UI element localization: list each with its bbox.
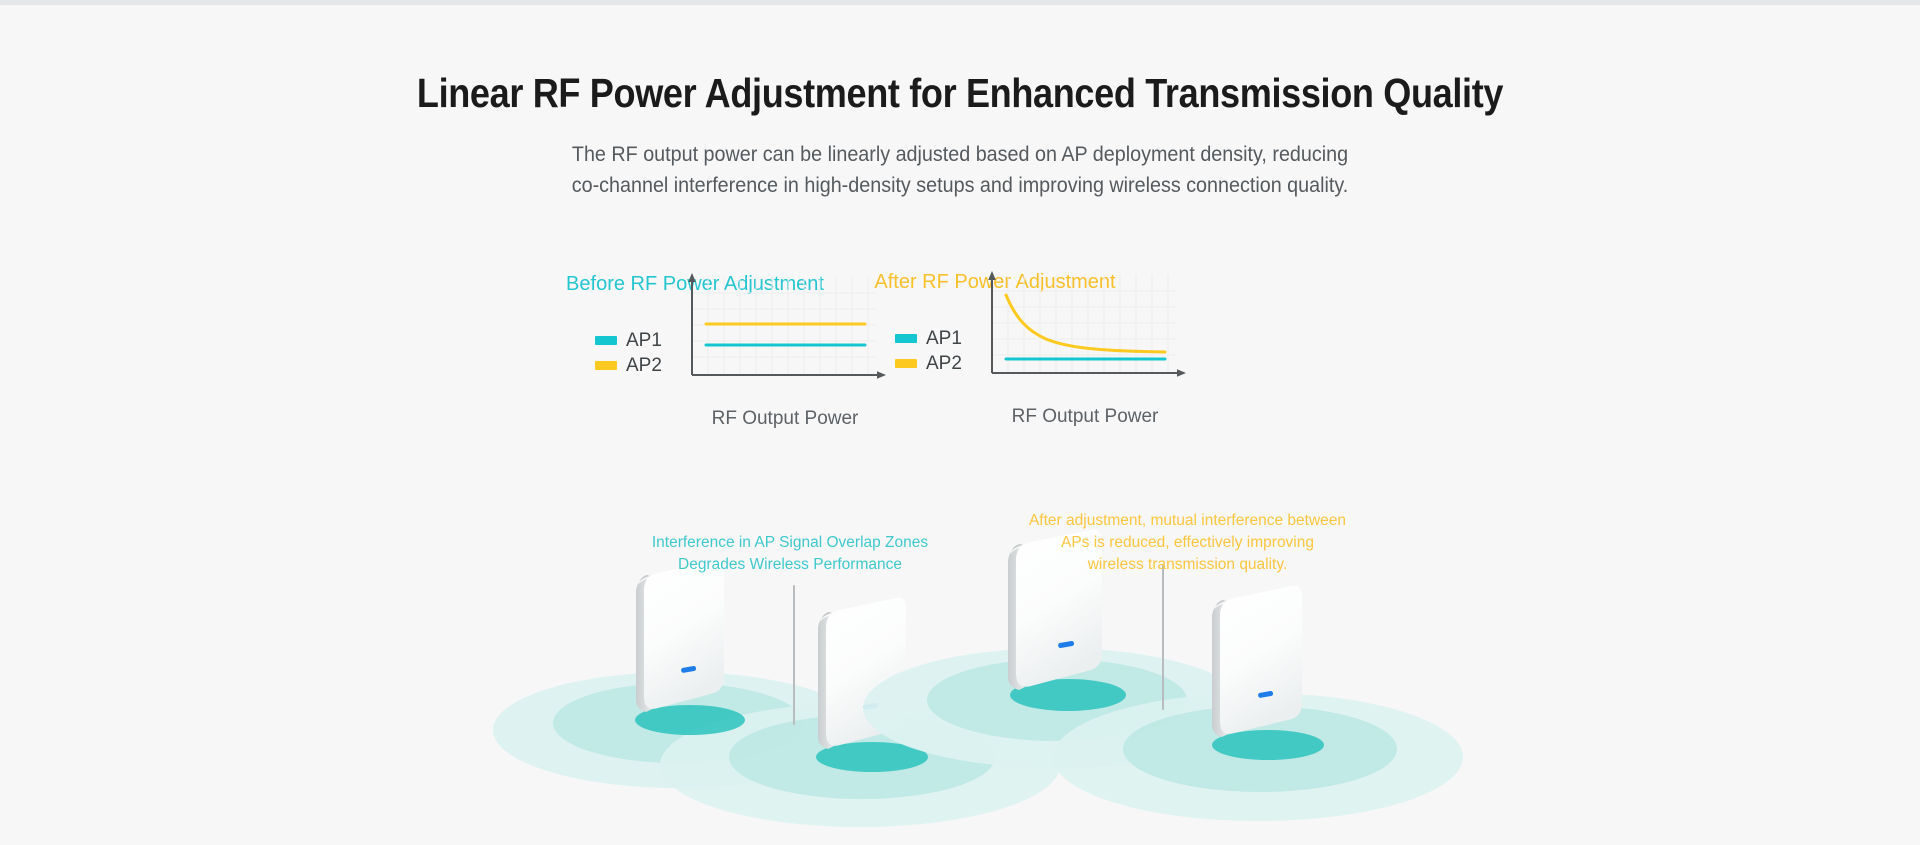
wireless-access-point [635,561,745,735]
caption-after: After adjustment, mutual interference be… [1015,510,1360,576]
chart-axes [988,271,1186,377]
status-led-icon [1258,691,1274,699]
legend-item-ap2: AP2 [595,353,662,378]
signal-rings-right-1 [863,648,1247,768]
group-divider-left [793,585,795,725]
legend-item-ap1: AP1 [895,326,962,351]
chart-before-legend: AP1 AP2 [595,328,662,378]
signal-rings-left-1 [493,672,863,788]
chart-after-legend: AP1 AP2 [895,326,962,376]
chart-before: Before RF Power Adjustment AP1 AP2 [540,273,850,433]
chart-after-svg [980,265,1200,405]
page-subtitle: The RF output power can be linearly adju… [58,139,1863,201]
legend-label-ap1: AP1 [926,326,962,351]
page-title: Linear RF Power Adjustment for Enhanced … [115,70,1805,117]
group-divider-right [1162,565,1164,710]
signal-rings-right-2 [1053,693,1463,821]
legend-swatch-amber-icon [595,361,617,370]
chart-after: After RF Power Adjustment AP1 AP2 [840,271,1150,431]
caption-before-line-1: Interference in AP Signal Overlap Zones [640,532,940,554]
caption-after-line-1: After adjustment, mutual interference be… [1015,510,1360,532]
legend-swatch-teal-icon [595,336,617,345]
ap-group-left [493,561,1060,827]
legend-swatch-amber-icon [895,359,917,368]
page-subtitle-line-1: The RF output power can be linearly adju… [58,139,1863,170]
legend-item-ap1: AP1 [595,328,662,353]
legend-label-ap2: AP2 [626,353,662,378]
caption-before-line-2: Degrades Wireless Performance [640,554,940,576]
signal-rings-left-2 [660,703,1060,827]
page-subtitle-line-2: co-channel interference in high-density … [58,170,1863,201]
status-led-icon [1058,641,1075,649]
caption-after-line-3: wireless transmission quality. [1015,554,1360,576]
chart-after-plot [980,265,1200,405]
legend-label-ap1: AP1 [626,328,662,353]
caption-after-line-2: APs is reduced, effectively improving [1015,532,1360,554]
status-led-icon [681,666,697,674]
wireless-access-point [816,598,928,772]
grid-horizontal [992,291,1176,355]
status-led-icon [863,703,879,711]
legend-item-ap2: AP2 [895,351,962,376]
caption-before: Interference in AP Signal Overlap Zones … [640,532,940,576]
page-body: Linear RF Power Adjustment for Enhanced … [0,5,1920,840]
legend-swatch-teal-icon [895,334,917,343]
wireless-access-point [1212,586,1324,760]
legend-label-ap2: AP2 [926,351,962,376]
chart-after-xlabel: RF Output Power [980,406,1190,428]
